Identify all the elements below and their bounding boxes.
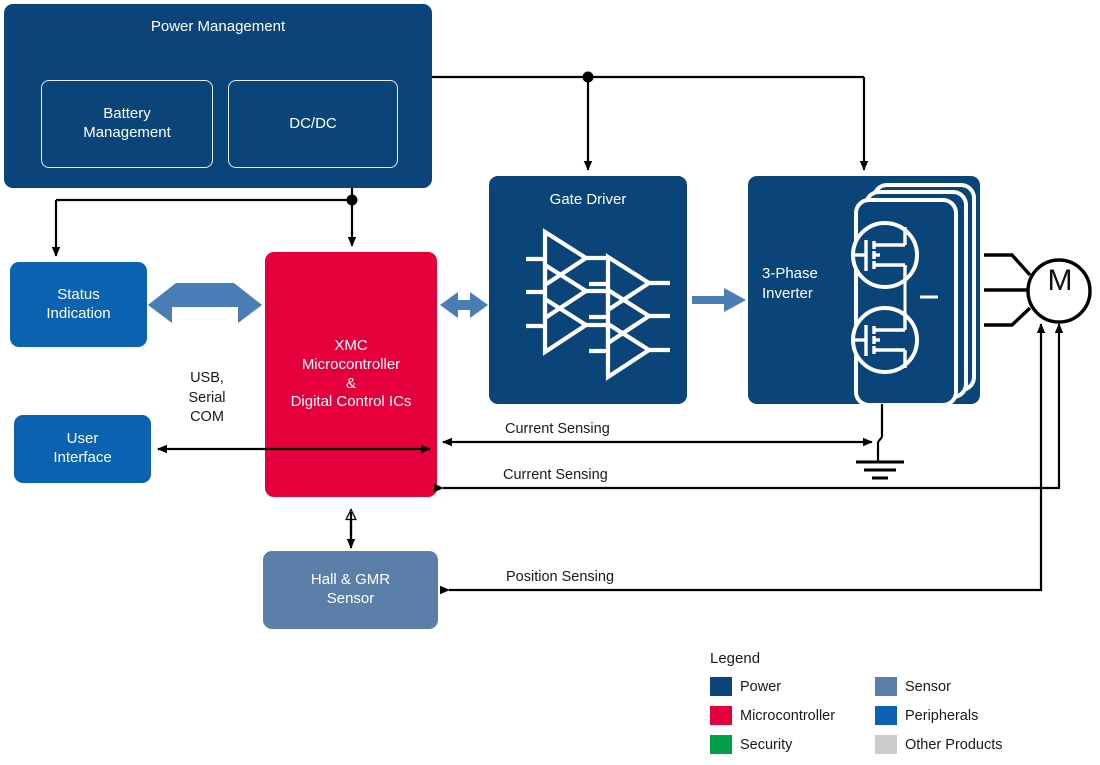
arrow-gate-driver-to-inverter (692, 288, 746, 312)
arrow-status-to-mcu (148, 283, 262, 323)
arrow-mcu-to-gate-driver (440, 292, 488, 318)
diagram-canvas: Power Management Battery Management DC/D… (0, 0, 1100, 765)
label-current-sensing-2: Current Sensing (503, 466, 608, 486)
legend-item-other-products: Other Products (875, 735, 1035, 754)
legend-grid: Power Sensor Microcontroller Peripherals… (710, 672, 1030, 759)
legend-item-sensor: Sensor (875, 677, 1035, 696)
gate-driver-symbols (526, 232, 670, 377)
legend-swatch-security (710, 735, 732, 754)
power-bottom-wires (56, 188, 358, 256)
legend-swatch-other-products (875, 735, 897, 754)
inverter-symbols (853, 185, 974, 405)
legend-item-peripherals: Peripherals (875, 706, 1035, 725)
legend-label-security: Security (740, 737, 792, 753)
legend-swatch-sensor (875, 677, 897, 696)
legend-label-sensor: Sensor (905, 679, 951, 695)
junction-dot-top (583, 72, 594, 83)
legend-label-microcontroller: Microcontroller (740, 708, 835, 724)
legend-swatch-peripherals (875, 706, 897, 725)
legend-label-peripherals: Peripherals (905, 708, 978, 724)
motor-label: M (1030, 264, 1090, 298)
legend-title: Legend (710, 650, 1030, 667)
legend-item-security: Security (710, 735, 875, 754)
legend-swatch-microcontroller (710, 706, 732, 725)
label-position-sensing: Position Sensing (506, 568, 614, 588)
inverter-motor-phases (984, 255, 1030, 325)
legend: Legend Power Sensor Microcontroller Peri… (710, 650, 1030, 759)
power-top-wires (432, 72, 864, 171)
legend-item-microcontroller: Microcontroller (710, 706, 875, 725)
label-current-sensing-1: Current Sensing (505, 420, 610, 440)
legend-label-other-products: Other Products (905, 737, 1003, 753)
legend-item-power: Power (710, 677, 875, 696)
legend-label-power: Power (740, 679, 781, 695)
junction-dot-left (347, 195, 358, 206)
legend-swatch-power (710, 677, 732, 696)
label-usb-serial-com: USB, Serial COM (167, 369, 247, 428)
